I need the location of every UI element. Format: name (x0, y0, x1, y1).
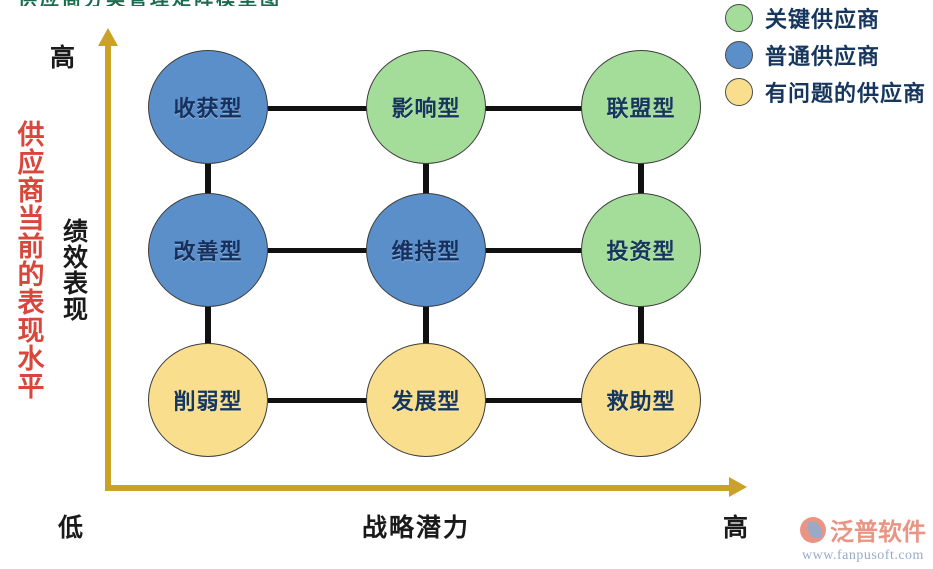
diagram-canvas: 供应商分类管理矩阵模型图 高 低 高 战略潜力 供应商当前的表现水平 绩效表现 … (0, 0, 933, 569)
y-axis-title-secondary: 绩效表现 (60, 218, 86, 322)
x-axis-line (105, 485, 733, 491)
page-title: 供应商分类管理矩阵模型图 (18, 0, 458, 6)
legend: 关键供应商 普通供应商 有问题的供应商 (725, 0, 926, 111)
matrix-node-影响型[interactable]: 影响型 (366, 50, 486, 164)
legend-item-normal-supplier[interactable]: 普通供应商 (725, 37, 926, 73)
matrix-node-label: 影响型 (391, 91, 460, 123)
matrix-node-label: 收获型 (173, 91, 242, 123)
matrix-node-label: 投资型 (606, 234, 675, 266)
y-axis-line (105, 42, 111, 490)
x-axis-title: 战略潜力 (362, 508, 470, 544)
y-axis-high-label: 高 (50, 38, 75, 74)
matrix-node-发展型[interactable]: 发展型 (366, 343, 486, 457)
matrix-node-维持型[interactable]: 维持型 (366, 193, 486, 307)
matrix-node-label: 联盟型 (606, 91, 675, 123)
matrix-node-联盟型[interactable]: 联盟型 (581, 50, 701, 164)
watermark-name: 泛普软件 (830, 512, 926, 547)
matrix-node-label: 救助型 (606, 384, 675, 416)
brand-logo-icon (800, 517, 826, 543)
y-axis-low-label: 低 (58, 508, 83, 544)
watermark: 泛普软件 www.fanpusoft.com (800, 512, 926, 564)
watermark-url: www.fanpusoft.com (802, 548, 924, 564)
legend-dot-icon (725, 41, 753, 69)
connector-col2-r1-r2 (638, 302, 644, 346)
matrix-node-救助型[interactable]: 救助型 (581, 343, 701, 457)
legend-item-label: 有问题的供应商 (765, 76, 926, 108)
matrix-node-投资型[interactable]: 投资型 (581, 193, 701, 307)
x-axis-high-label: 高 (723, 508, 748, 544)
legend-item-problem-supplier[interactable]: 有问题的供应商 (725, 74, 926, 110)
matrix-node-label: 削弱型 (173, 384, 242, 416)
matrix-node-削弱型[interactable]: 削弱型 (148, 343, 268, 457)
legend-dot-icon (725, 4, 753, 32)
connector-col1-r1-r2 (423, 302, 429, 346)
legend-dot-icon (725, 78, 753, 106)
x-axis-arrow-icon (729, 477, 747, 497)
connector-col0-r1-r2 (205, 302, 211, 346)
legend-item-label: 普通供应商 (765, 39, 880, 71)
legend-item-label: 关键供应商 (765, 2, 880, 34)
matrix-node-label: 维持型 (391, 234, 460, 266)
matrix-node-收获型[interactable]: 收获型 (148, 50, 268, 164)
matrix-node-label: 发展型 (391, 384, 460, 416)
watermark-brand: 泛普软件 (800, 512, 926, 547)
matrix-node-label: 改善型 (173, 234, 242, 266)
matrix-node-改善型[interactable]: 改善型 (148, 193, 268, 307)
y-axis-arrow-icon (98, 28, 118, 46)
legend-item-key-supplier[interactable]: 关键供应商 (725, 0, 926, 36)
y-axis-title-primary: 供应商当前的表现水平 (14, 120, 42, 400)
